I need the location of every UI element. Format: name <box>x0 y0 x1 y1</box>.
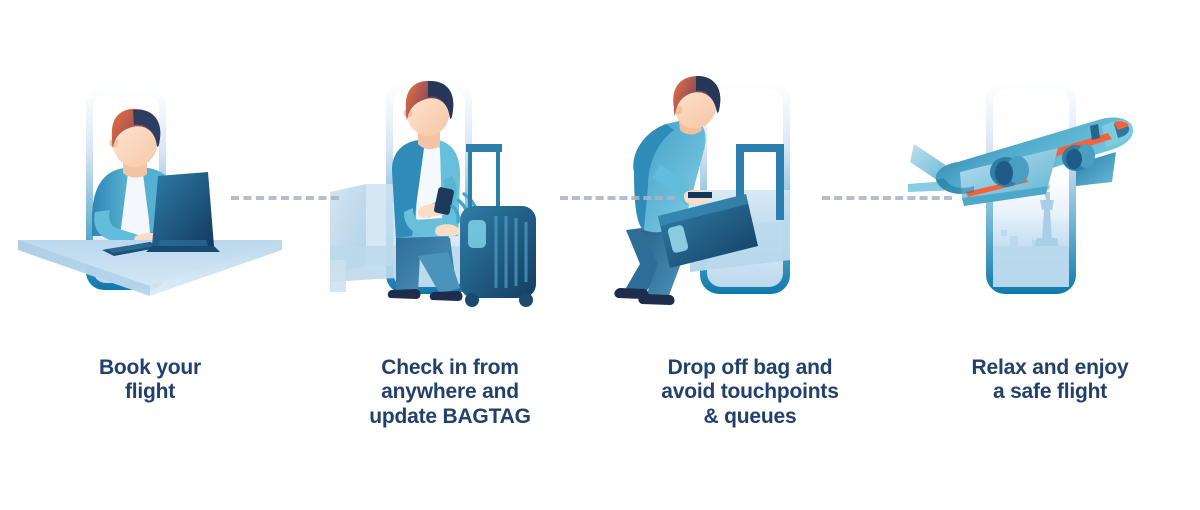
journey-step-1: Book your flight <box>0 60 300 460</box>
journey-step-4: Relax and enjoy a safe flight <box>900 60 1200 460</box>
rolling-suitcase <box>460 144 536 307</box>
journey-step-2: Check in from anywhere and update BAGTAG <box>300 60 600 460</box>
step-3-caption: Drop off bag and avoid touchpoints & que… <box>600 356 900 429</box>
connector-2-3 <box>560 196 675 204</box>
connector-3-4 <box>822 196 952 204</box>
journey-step-3: Drop off bag and avoid touchpoints & que… <box>600 60 900 460</box>
illustration-book-your-flight <box>0 60 300 320</box>
step-2-caption: Check in from anywhere and update BAGTAG <box>300 356 600 429</box>
illustration-check-in-from-anywhere <box>300 60 600 320</box>
connector-1-2 <box>231 196 339 204</box>
step-4-caption: Relax and enjoy a safe flight <box>900 356 1200 405</box>
illustration-drop-off-bag <box>600 60 900 320</box>
step-1-caption: Book your flight <box>0 356 300 405</box>
illustration-relax-and-enjoy <box>900 60 1200 320</box>
journey-infographic: Book your flight <box>0 0 1200 510</box>
